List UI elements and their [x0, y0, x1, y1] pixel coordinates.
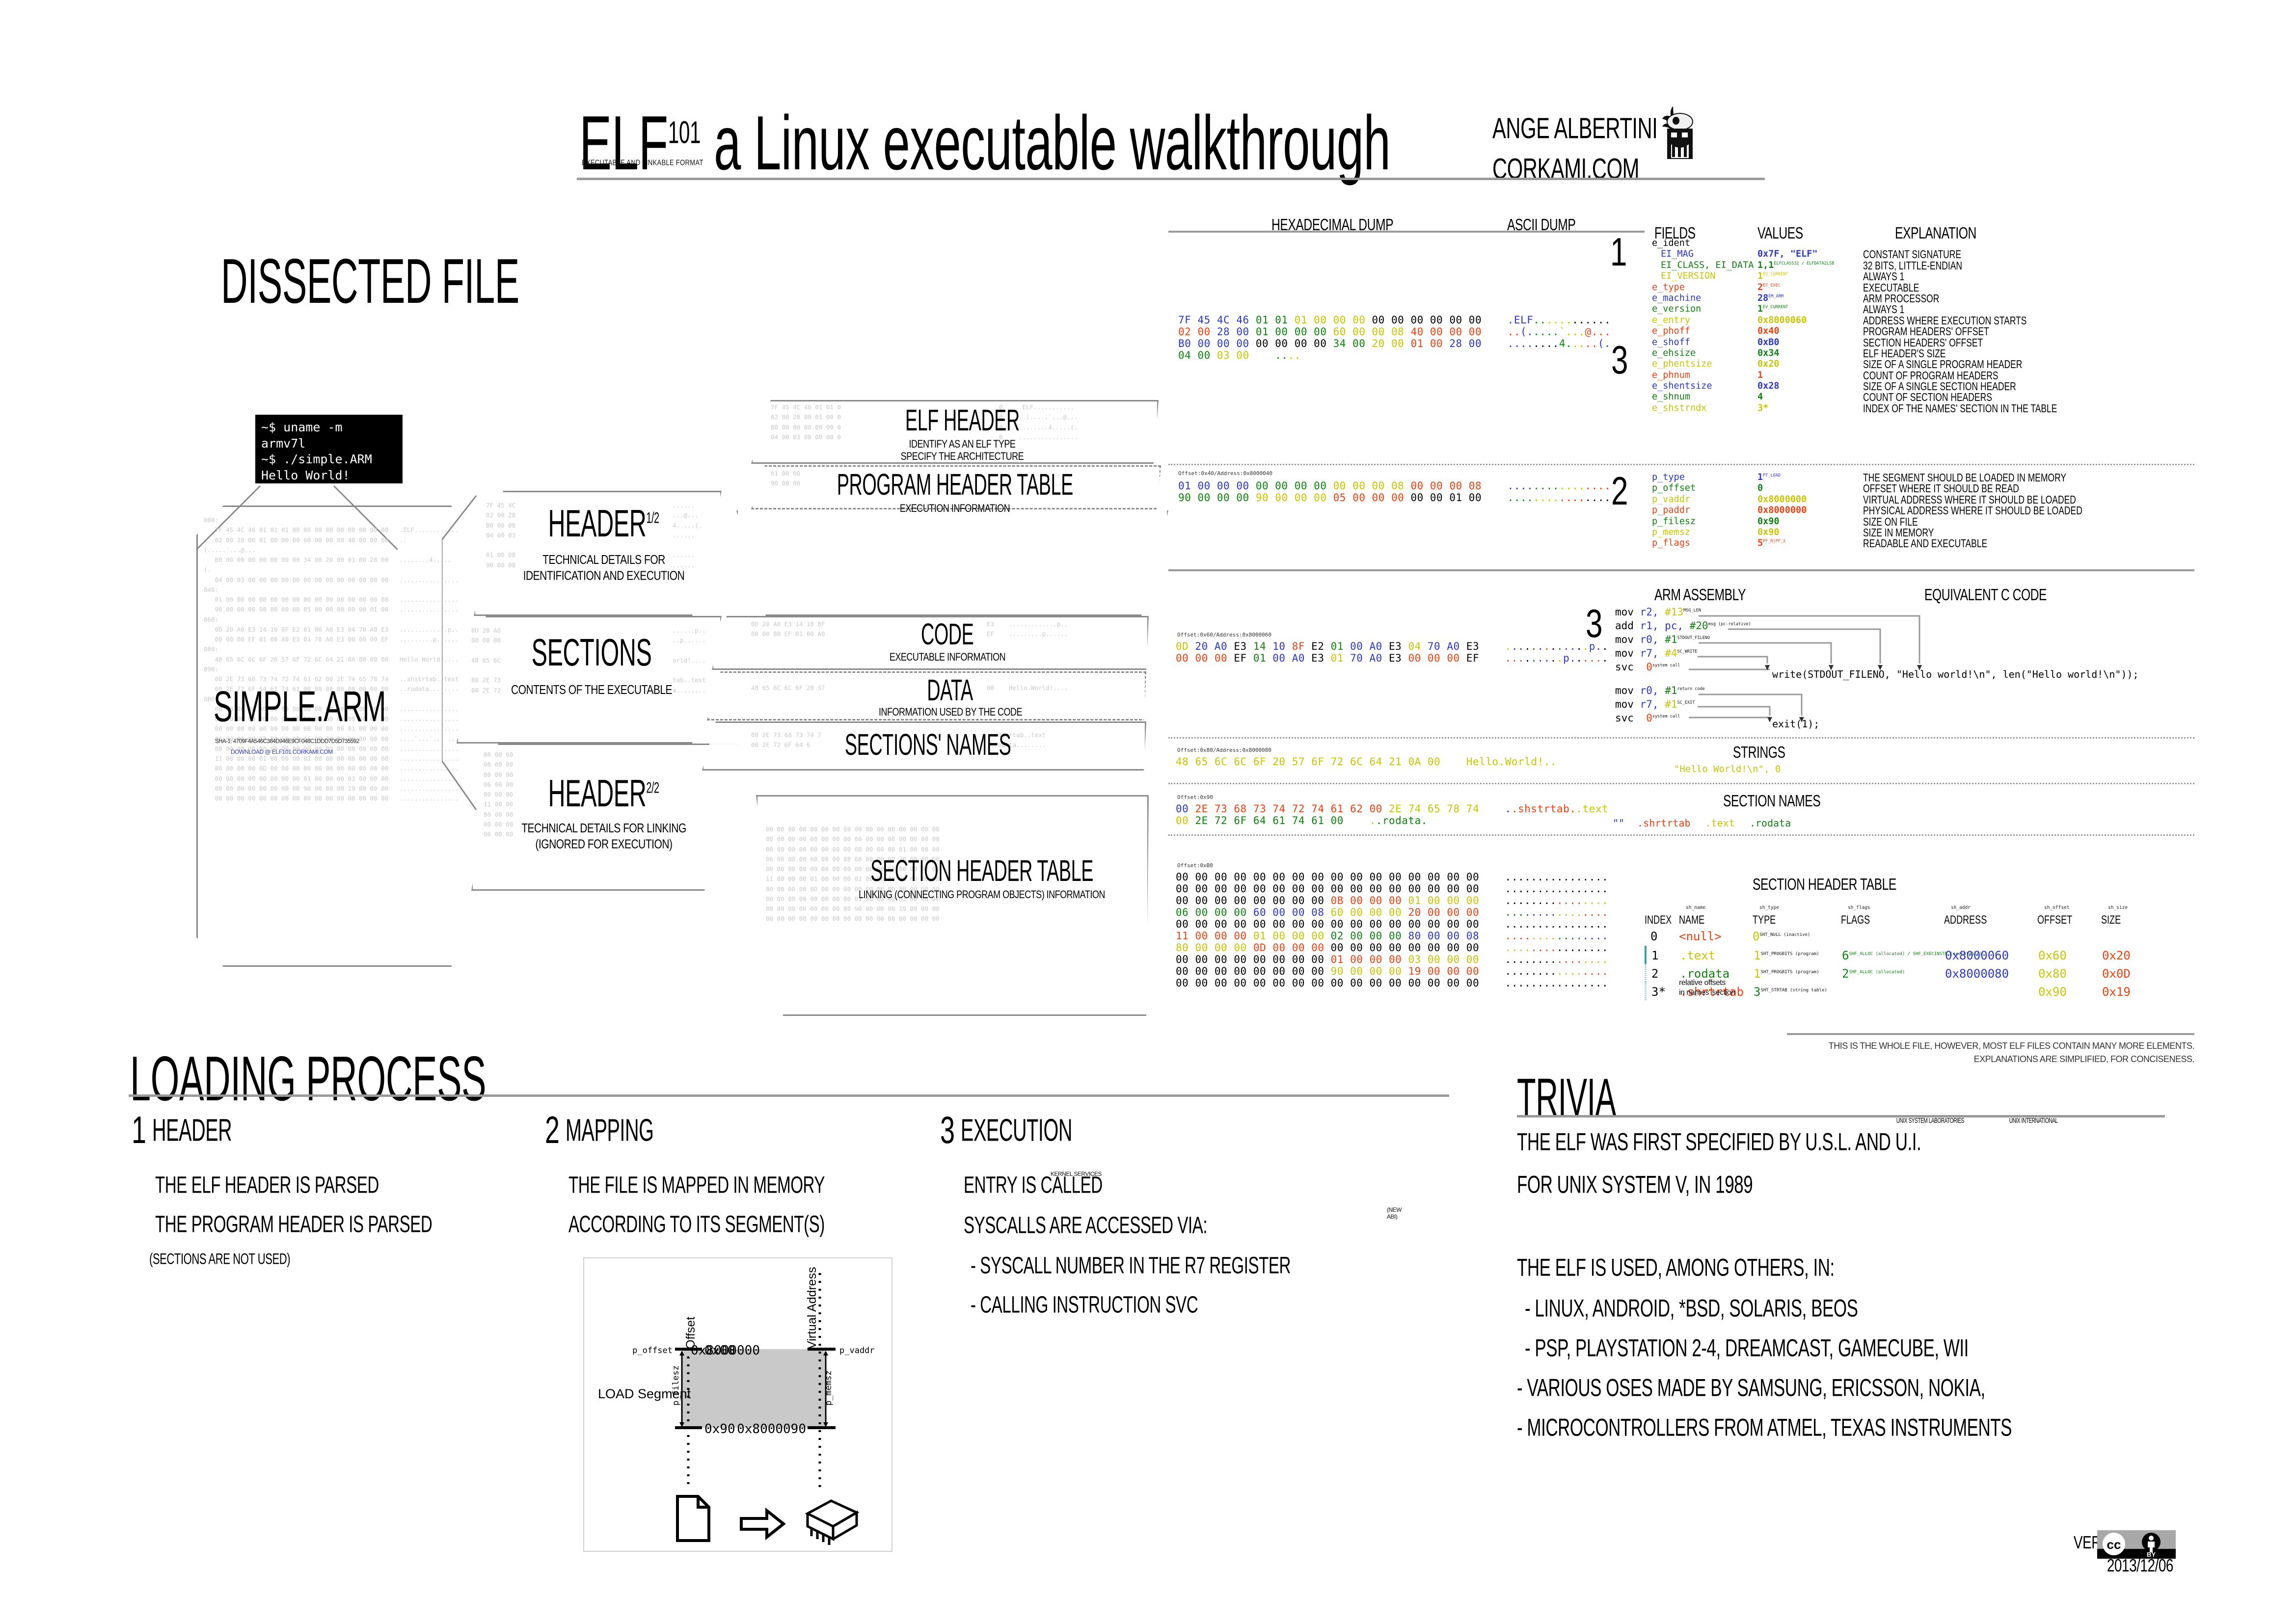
- author-site: CORKAMI.COM: [1492, 149, 1657, 189]
- hex-line: [673, 665, 706, 675]
- asm-annotation: MSG_LEN: [1683, 608, 1701, 613]
- step-line-syscalls: SYSCALLS ARE ACCESSED VIA:: [964, 1211, 1290, 1239]
- sht-col-sup: sh_size: [2108, 905, 2128, 910]
- hex-line: 00 00 00 00 00 00 00 00 00 00 00 00 00 0…: [1176, 883, 1608, 895]
- table-row: 2.rodata1SHT_PROGBITS (program)2SHF_ALLO…: [1645, 964, 1647, 982]
- field-value: 1: [1757, 370, 1763, 380]
- section-names-title: SECTION NAMES: [1723, 791, 1820, 811]
- part-title: PROGRAM HEADER TABLE: [837, 468, 1073, 502]
- field-value: 0x40: [1757, 326, 1780, 336]
- loading-step-2: 2 MAPPING THE FILE IS MAPPED IN MEMORY A…: [545, 1108, 847, 1231]
- asm-operand-b: #1: [1665, 685, 1677, 696]
- field-value: 1EV_CURRENT: [1757, 304, 1788, 314]
- hex-line: 04 00 03 00 ....: [1178, 349, 1611, 361]
- map-p-vaddr: p_vaddr: [839, 1346, 875, 1356]
- field-name: e_type: [1652, 282, 1685, 293]
- divider-solid-1: [1168, 569, 2194, 571]
- asm-operand-a: r0,: [1640, 685, 1659, 696]
- file-sha1: SHA-1: 4709F4A546C384D946E9CF048C1DDD7D5…: [215, 739, 359, 745]
- part-title: SECTIONS' NAMES: [845, 728, 1011, 762]
- terminal-line: armv7l: [261, 436, 397, 452]
- sht-offset: 0x80: [2038, 967, 2067, 981]
- section-names-hexdump: 00 2E 73 68 73 74 72 74 61 62 00 2E 74 6…: [1176, 803, 1608, 826]
- asm-op: mov: [1615, 647, 1634, 659]
- sht-index: 2: [1651, 967, 1658, 981]
- field-value: 0x20: [1757, 359, 1780, 369]
- field-value: 0xB0: [1757, 337, 1780, 347]
- trivia-used-item: - PSP, PLAYSTATION 2-4, DREAMCAST, GAMEC…: [1525, 1335, 2012, 1363]
- title-elf-expansion: EXECUTABLE AND LINKABLE FORMAT: [582, 158, 703, 167]
- field-value: 4: [1757, 392, 1763, 402]
- table-row: 1.text1SHT_PROGBITS (program)6SHF_ALLOC …: [1645, 946, 1647, 964]
- terminal-line: ~$ uname -m: [261, 420, 397, 436]
- map-p-memsz: p_memsz: [824, 1370, 834, 1406]
- field-name: e_machine: [1652, 293, 1701, 303]
- hex-line: 04 00 03 00 00 00 00 00 00 00 00 00 00 0…: [204, 575, 454, 585]
- asm-title: ARM ASSEMBLY: [1654, 585, 1746, 605]
- field-value: 5PF_R|PF_X: [1757, 538, 1785, 548]
- field-value: 0x7F, "ELF": [1757, 249, 1818, 259]
- asm-operand-b: 0: [1646, 712, 1652, 724]
- divider-dotted-3: [1168, 783, 2194, 784]
- hex-line: 11 00 00 00 01 00 00 00 02 00 00 00 80 0…: [204, 754, 454, 764]
- part-label-code: CODE EXECUTABLE INFORMATION: [869, 617, 1026, 661]
- step-title: HEADER: [152, 1113, 232, 1149]
- asm-operand-b: 0: [1646, 661, 1652, 673]
- sht-address: 0x8000080: [1945, 967, 2009, 981]
- field-name: e_shstrndx: [1652, 403, 1706, 413]
- asm-annotation: STDOUT_FILENO: [1677, 636, 1710, 640]
- field-name: EI_CLASS, EI_DATA: [1661, 260, 1754, 270]
- author-name: ANGE ALBERTINI: [1492, 109, 1657, 149]
- part-hex-elf-header: 7F 45 4C 46 01 01 002 00 28 00 01 00 0B0…: [771, 402, 841, 442]
- asm-op: svc: [1615, 712, 1634, 724]
- sht-col-offset: OFFSET: [2037, 914, 2072, 928]
- loading-step-3: 3 EXECUTION ENTRY IS CALLED SYSCALLS ARE…: [940, 1108, 1319, 1311]
- ccode-title: EQUIVALENT C CODE: [1924, 585, 2047, 605]
- asm-op: mov: [1615, 634, 1634, 645]
- section-names-list: "" .shrtrtab .text .rodata: [1613, 817, 1791, 829]
- hex-line: 80 00 00: [484, 810, 513, 820]
- part-label-elf-header: ELF HEADER IDENTIFY AS AN ELF TYPE SPECI…: [859, 403, 1065, 460]
- sht-hexdump: 00 00 00 00 00 00 00 00 00 00 00 00 00 0…: [1176, 871, 1608, 989]
- title-divider: [577, 178, 1765, 180]
- asm-operand-a: r0,: [1640, 634, 1659, 645]
- field-name: p_type: [1652, 472, 1685, 482]
- field-value: 1EV_CURRENT: [1757, 271, 1788, 281]
- asm-op: mov: [1615, 606, 1634, 618]
- part-hex-data: 48 65 6C 6C 6F 20 57: [751, 683, 825, 693]
- hex-line: 00 00 00 00 00 00 00 00 0B 00 00 00 01 0…: [1176, 895, 1608, 906]
- field-name: e_shoff: [1652, 337, 1690, 347]
- group-label-header2: HEADER2/2: [506, 772, 702, 802]
- step-number-3b: 3: [1611, 338, 1628, 383]
- asm-operand-b: #20: [1690, 620, 1708, 632]
- sht-type: 1SHT_PROGBITS (program): [1754, 967, 1819, 981]
- hex-line: 48 65 6C 6C 6F 20 57: [751, 683, 825, 693]
- hex-line: B0 00 00 00 00 00 00 00 34 00 20 00 01 0…: [1178, 338, 1611, 349]
- r7-superscript: (NEW ABI): [1387, 1206, 1402, 1220]
- hex-line: 00 00 00: [484, 760, 513, 770]
- hex-line: 90 00 00 00 90 00 00 00 05 00 00 00 00 0…: [204, 605, 454, 614]
- field-value: 0x90: [1757, 527, 1780, 537]
- field-name: EI_MAG: [1661, 249, 1694, 259]
- cc-license-badge: cc BY: [2097, 1530, 2176, 1559]
- group-label-sections: SECTIONS: [496, 631, 687, 661]
- asm-operand-b: #1: [1665, 634, 1677, 645]
- step-line: THE ELF HEADER IS PARSED: [155, 1171, 432, 1199]
- field-value: 2ET_EXEC: [1757, 282, 1781, 293]
- step-num: 3: [940, 1108, 955, 1152]
- hex-line: 00 2E 73 68 73 74 72 74 61 62 00 2E 74 6…: [1176, 803, 1608, 815]
- hex-line: 0D 20 A0 E3 14 10 8F E2 01 00 A0 E3 04 7…: [1176, 640, 1608, 652]
- field-explanation: INDEX OF THE NAMES' SECTION IN THE TABLE: [1863, 403, 2057, 416]
- dump-footnote: THIS IS THE WHOLE FILE, HOWEVER, MOST EL…: [1811, 1039, 2194, 1066]
- part-title: CODE: [921, 617, 973, 652]
- field-name: p_flags: [1652, 538, 1690, 548]
- asm-operand-a: r2,: [1640, 606, 1659, 618]
- col-head-explanation: EXPLANATION: [1895, 223, 1976, 243]
- hex-line: 02 00 28 00 01 00 00 00 60 00 00 08 40 0…: [1178, 326, 1611, 338]
- field-name: p_paddr: [1652, 505, 1690, 515]
- step-title: MAPPING: [566, 1113, 653, 1149]
- trivia-body: THE ELF WAS FIRST SPECIFIED BY U.S.L. AN…: [1517, 1129, 2055, 1436]
- sht-col-sup: sh_flags: [1848, 905, 1870, 910]
- step-line: - SYSCALL NUMBER IN THE R7 REGISTER: [971, 1251, 1291, 1279]
- group-sub-line: TECHNICAL DETAILS FOR: [511, 552, 697, 568]
- section-name-rodata: .rodata: [1750, 817, 1791, 829]
- sht-index: 0: [1650, 930, 1657, 943]
- hex-line: 06 00 00 00 60 00 00 08 60 00 00 00 20 0…: [1176, 906, 1608, 918]
- hex-line: 01 00 00: [771, 469, 800, 479]
- sht-address: 0x8000060: [1945, 949, 2009, 962]
- dissected-file-heading: DISSECTED FILE: [221, 245, 519, 319]
- hex-line: 00 00 00 00 00 00 00 00 90 00 00 00 19 0…: [766, 904, 940, 914]
- group-sub-sections: CONTENTS OF THE EXECUTABLE: [496, 682, 687, 698]
- hex-line: 00 00 00 00 00 00 00 00 90 00 00 00 19 0…: [204, 784, 454, 794]
- col-head-values: VALUES: [1757, 223, 1803, 243]
- hex-line: B0 00 00 00 00 00 00 00 34 00 20 00 01 0…: [204, 555, 454, 575]
- map-segment-label: LOAD Segment: [598, 1386, 691, 1401]
- table-row: 3*.shrtrtab3SHT_STRTAB (string table)0x9…: [1645, 982, 1647, 1000]
- group-sub-header1: TECHNICAL DETAILS FOR IDENTIFICATION AND…: [511, 552, 697, 585]
- asm-op: mov: [1615, 685, 1634, 696]
- hex-line: 090:: [204, 665, 454, 674]
- field-value: 1PT_LOAD: [1757, 472, 1781, 482]
- asm-operand-a: r7,: [1640, 647, 1659, 659]
- field-value: 0: [1757, 483, 1763, 493]
- asm-op: add: [1615, 620, 1634, 632]
- sht-type: 3SHT_STRTAB (string table): [1754, 985, 1827, 999]
- trivia-line: FOR UNIX SYSTEM V, IN 1989: [1517, 1171, 2012, 1199]
- field-value: 0x28: [1757, 381, 1780, 391]
- asm-op: mov: [1615, 698, 1634, 710]
- group-sub-line: CONTENTS OF THE EXECUTABLE: [496, 682, 687, 698]
- title-subtitle: a Linux executable walkthrough: [701, 100, 1390, 186]
- group-sup: 2/2: [647, 779, 659, 797]
- sht-note: relative offsets in names' section: [1679, 978, 1735, 998]
- part-sub: SPECIFY THE ARCHITECTURE: [859, 450, 1065, 463]
- hex-line: B0 00 00 00 00 00 0: [771, 423, 841, 432]
- map-vaddr-axis: Virtual Address: [805, 1267, 819, 1349]
- mascot-icon: [1654, 102, 1702, 166]
- step-line-text: SYSCALLS ARE ACCESSED VIA:: [964, 1211, 1207, 1238]
- asm-line: mov r0, #1return code: [1615, 685, 1705, 698]
- sht-col-sup: sh_offset: [2044, 905, 2069, 910]
- page-title: ELF101 a Linux executable walkthrough: [579, 98, 1390, 187]
- step-number-3: 3: [1586, 601, 1602, 646]
- hex-line: 04 00 03 00 00 00 0: [771, 432, 841, 442]
- part-title: DATA: [927, 673, 972, 708]
- field-value: 0x8000000: [1757, 494, 1807, 505]
- field-name: e_ehsize: [1652, 348, 1696, 358]
- map-p-offset: p_offset: [632, 1346, 673, 1356]
- asm-line: svc 0system call: [1615, 712, 1705, 726]
- step-number-2: 2: [1611, 469, 1628, 514]
- loading-process-heading: LOADING PROCESS: [130, 1043, 486, 1116]
- field-value: 0x8000000: [1757, 505, 1807, 515]
- part-sub: IDENTIFY AS AN ELF TYPE: [859, 438, 1065, 451]
- by-glyph: BY: [2147, 1551, 2156, 1558]
- asm-line: mov r2, #13MSG_LEN: [1615, 606, 1751, 620]
- hex-line: 080:: [204, 644, 454, 654]
- part-label-section-header-table: SECTION HEADER TABLE LINKING (CONNECTING…: [835, 854, 1129, 899]
- hex-line: 00 00 00 00 00 00 00 00 00 00 00 00 00 0…: [204, 794, 454, 803]
- loading-process-divider: [129, 1094, 1449, 1097]
- data-offset-label: Offset:0x80/Address:0x8000080: [1177, 747, 1271, 753]
- sht-col-sup: sh_type: [1759, 905, 1779, 910]
- hex-line: 00 00 00: [484, 750, 513, 760]
- sht-note-line: relative offsets: [1679, 978, 1735, 988]
- asm-block-write: mov r2, #13MSG_LENadd r1, pc, #20msg (pc…: [1615, 606, 1751, 675]
- trivia-used-item: - LINUX, ANDROID, *BSD, SOLARIS, BEOS: [1525, 1295, 2012, 1323]
- trivia-used-item: - VARIOUS OSES MADE BY SAMSUNG, ERICSSON…: [1517, 1375, 2012, 1403]
- trivia-heading: TRIVIA: [1517, 1067, 1616, 1128]
- loading-step-1: 1 HEADER THE ELF HEADER IS PARSED THE PR…: [132, 1108, 456, 1264]
- group-label-header1: HEADER1/2: [511, 502, 697, 532]
- step-num: 1: [132, 1108, 146, 1152]
- step-title: EXECUTION: [961, 1113, 1072, 1149]
- cc-glyph: cc: [2107, 1537, 2121, 1552]
- hex-line: 00 00 00 EF 01 00 A0 E3 01 70 A0 E3 00 0…: [204, 635, 454, 644]
- field-value: 0x34: [1757, 348, 1780, 358]
- hex-line: 00 00 00 00 00 00 00 00 0B 00 00 00 01 0…: [766, 845, 940, 854]
- hex-line: 00 00 00 00 00 00 00 00 00 00 00 00 00 0…: [766, 914, 940, 924]
- trivia-sup-usl: UNIX SYSTEM LABORATORIES: [1896, 1117, 1964, 1125]
- field-name: e_shnum: [1652, 392, 1690, 402]
- title-superscript: 101: [668, 115, 701, 150]
- trivia-line: THE ELF WAS FIRST SPECIFIED BY U.S.L. AN…: [1517, 1129, 1921, 1156]
- dump-rule-top: [1168, 231, 1645, 233]
- group-sup: 1/2: [647, 509, 659, 527]
- field-name: e_entry: [1652, 315, 1690, 325]
- hex-line: 7F 45 4C 46 01 01 01 00 00 00 00 00 00 0…: [204, 525, 454, 535]
- sht-size: 0x0D: [2102, 967, 2131, 981]
- sht-title: SECTION HEADER TABLE: [1753, 875, 1896, 894]
- asm-line: mov r7, #4SC_WRITE: [1615, 647, 1751, 661]
- ph-offset-label: Offset:0x40/Address:0x8000040: [1178, 470, 1272, 477]
- asm-operand-a: r1, pc,: [1640, 620, 1684, 632]
- hex-line: 0D 20 A0 E3 14 10 8F E2 01 00 A0 E3 04 7…: [204, 625, 454, 635]
- sht-flags: 2SHF_ALLOC (allocated): [1842, 967, 1905, 981]
- strings-title: STRINGS: [1733, 743, 1785, 762]
- asm-annotation: SC_EXIT: [1677, 700, 1695, 705]
- field-explanation: READABLE AND EXECUTABLE: [1863, 538, 1987, 551]
- step-line: - CALLING INSTRUCTION SVC: [971, 1291, 1291, 1319]
- field-name: e_phoff: [1652, 326, 1690, 336]
- field-name: e_version: [1652, 304, 1701, 314]
- sht-col-sup: sh_addr: [1951, 905, 1971, 910]
- hex-line: 0D 20 A0 E3 14 10 8F: [751, 619, 825, 629]
- footnote-line: EXPLANATIONS ARE SIMPLIFIED, FOR CONCISE…: [1811, 1053, 2194, 1066]
- part-label-program-header-table: PROGRAM HEADER TABLE EXECUTION INFORMATI…: [812, 468, 1097, 512]
- field-name: EI_VERSION: [1661, 271, 1715, 281]
- hex-line: 02 00 28 00 01 00 0: [771, 412, 841, 422]
- sht-name: <null>: [1679, 930, 1722, 943]
- asm-annotation: return code: [1677, 687, 1704, 692]
- table-row: 0<null>0SHT_NULL (inactive): [1645, 928, 1647, 946]
- title-elf: ELF: [579, 100, 668, 186]
- file-hexdump: 000: 7F 45 4C 46 01 01 01 00 00 00 00 00…: [204, 515, 454, 803]
- map-file-bottom: 0x90: [704, 1422, 735, 1437]
- hex-line: [673, 540, 702, 550]
- step-num: 2: [545, 1108, 560, 1152]
- sht-name: .text: [1680, 949, 1715, 962]
- asm-op: svc: [1615, 661, 1634, 673]
- part-sub: EXECUTABLE INFORMATION: [869, 651, 1026, 664]
- section-header-table: INDEXNAMEsh_nameTYPEsh_typeFLAGSsh_flags…: [1645, 903, 1647, 1000]
- asm-annotation: system call: [1652, 663, 1680, 668]
- hex-line: 00 00 00 00 00 00 00 00 00 00 00 00 00 0…: [766, 834, 940, 844]
- part-title: ELF HEADER: [905, 403, 1020, 438]
- strings-value: "Hello World!\n", 0: [1674, 764, 1781, 774]
- divider-solid-2: [1787, 1033, 2194, 1035]
- field-name: p_vaddr: [1652, 494, 1690, 505]
- asm-annotation: system call: [1652, 714, 1680, 719]
- asm-annotation: msg (pc-relative): [1708, 622, 1751, 627]
- program-header-hexdump: 01 00 00 00 00 00 00 00 00 00 00 08 00 0…: [1178, 480, 1611, 504]
- field-name: e_phentsize: [1652, 359, 1712, 369]
- asm-operand-b: #13: [1665, 606, 1683, 618]
- download-link[interactable]: DOWNLOAD @ ELF101.CORKAMI.COM: [231, 748, 333, 755]
- field-name: p_memsz: [1652, 527, 1690, 537]
- file-name-label: SIMPLE.ARM: [214, 682, 386, 732]
- asm-operand-b: #4: [1665, 647, 1677, 659]
- hex-line: 01 00 00 00 00 00 00 00 00 00 00 08 00 0…: [1178, 480, 1611, 492]
- trivia-used-intro: THE ELF IS USED, AMONG OTHERS, IN:: [1517, 1254, 2012, 1282]
- hex-line: 90 00 00 00 90 00 00 00 05 00 00 00 00 0…: [1178, 492, 1611, 504]
- part-sub: LINKING (CONNECTING PROGRAM OBJECTS) INF…: [835, 888, 1129, 901]
- hex-line: 00 00 00 00 00 00 00 00 00 00 00 00 00 0…: [1176, 977, 1608, 989]
- mapping-diagram: 0x00 0x90 0x8000000 0x8000090 p_offset p…: [583, 1257, 892, 1552]
- code-offset-label: Offset:0x60/Address:0x8000060: [1177, 632, 1271, 638]
- field-value: 1,1ELFCLASS32 / ELFDATA2LSB: [1757, 260, 1834, 270]
- terminal-line: ~$ ./simple.ARM: [261, 452, 397, 468]
- hex-line: 80 00 00 00 0D 00 00 00 00 00 00 00 00 0…: [204, 764, 454, 773]
- trivia-divider: [1517, 1115, 2165, 1117]
- hex-line: 02 00 28 00 01 00 00 00 60 00 00 08 40 0…: [204, 535, 454, 556]
- hex-line: 00 00 00 EF 01 00 A0 E3 01 70 A0 E3 00 0…: [1176, 652, 1608, 664]
- hex-line: 90 00 00: [771, 479, 800, 488]
- field-name: e_shentsize: [1652, 381, 1712, 391]
- part-label-sections-names: SECTIONS' NAMES: [830, 728, 1026, 751]
- hex-line: 000:: [204, 515, 454, 525]
- field-value: 0x8000060: [1757, 315, 1807, 325]
- sht-index: 1: [1651, 949, 1658, 962]
- asm-annotation: SC_WRITE: [1677, 649, 1697, 654]
- group-title: HEADER: [548, 502, 647, 545]
- part-label-data: DATA INFORMATION USED BY THE CODE: [879, 673, 1021, 716]
- step-number-1: 1: [1610, 230, 1627, 275]
- field-name: e_phnum: [1652, 370, 1690, 380]
- hex-line: 00 00 00 EF 01 00 A0: [751, 629, 825, 639]
- sht-type: 0SHT_NULL (inactive): [1753, 930, 1810, 943]
- step-line: THE PROGRAM HEADER IS PARSED: [155, 1210, 432, 1238]
- footnote-line: THIS IS THE WHOLE FILE, HOWEVER, MOST EL…: [1811, 1039, 2194, 1053]
- step-note: (SECTIONS ARE NOT USED): [149, 1251, 432, 1268]
- sht-note-line: in names' section: [1679, 988, 1735, 998]
- group-sub-line: TECHNICAL DETAILS FOR LINKING: [506, 821, 702, 837]
- section-name-shstrtab: .shrtrtab: [1637, 817, 1690, 829]
- asm-line: add r1, pc, #20msg (pc-relative): [1615, 620, 1751, 634]
- hex-line: 00 00 00 00 00 00 00 00 00 00 00 00 00 0…: [766, 825, 940, 834]
- sht-col-flags: FLAGS: [1841, 914, 1870, 928]
- part-title: SECTION HEADER TABLE: [870, 854, 1093, 888]
- hex-line: 80 00 00 00 0D 00 00 00 00 00 00 00 00 0…: [1176, 942, 1608, 954]
- hex-line: 01 00 00 00 00 00 00 00 00 00 00 08 00 0…: [204, 595, 454, 605]
- hex-line: 00 00 00 00 00 00 00 00 00 00 00 00 00 0…: [1176, 918, 1608, 930]
- hex-line: [471, 665, 501, 675]
- hex-line: 00 2E 73 68 73 74 7: [751, 730, 821, 740]
- asm-block-exit: mov r0, #1return codemov r7, #1SC_EXITsv…: [1615, 685, 1705, 726]
- elf-header-hexdump: 7F 45 4C 46 01 01 01 00 00 00 00 00 00 0…: [1178, 314, 1611, 361]
- section-name-text: .text: [1705, 817, 1735, 829]
- section-name-null: "": [1613, 817, 1624, 829]
- sht-size: 0x20: [2102, 949, 2131, 962]
- group-title: HEADER: [548, 772, 647, 815]
- sht-col-name: NAME: [1679, 914, 1704, 928]
- map-mem-bottom: 0x8000090: [737, 1422, 806, 1437]
- asm-line: mov r0, #1STDOUT_FILENO: [1615, 634, 1751, 647]
- sht-header-row: INDEXNAMEsh_nameTYPEsh_typeFLAGSsh_flags…: [1645, 903, 1647, 928]
- field-value: 3*: [1757, 403, 1768, 413]
- part-sub: INFORMATION USED BY THE CODE: [879, 706, 1021, 718]
- sht-col-address: ADDRESS: [1944, 914, 1987, 928]
- map-offset-axis: Offset: [684, 1317, 698, 1349]
- sht-col-type: TYPE: [1753, 914, 1776, 928]
- hex-line: 7F 45 4C 46 01 01 0: [771, 402, 841, 412]
- group-sub-line: IDENTIFICATION AND EXECUTION: [511, 568, 697, 585]
- group-sub-line: (IGNORED FOR EXECUTION): [506, 837, 702, 853]
- trivia-used-item: - MICROCONTROLLERS FROM ATMEL, TEXAS INS…: [1517, 1414, 2012, 1442]
- hex-line: 7F 45 4C 46 01 01 01 00 00 00 00 00 00 0…: [1178, 314, 1611, 326]
- asm-line: mov r7, #1SC_EXIT: [1615, 698, 1705, 712]
- poster-header: ELF101 a Linux executable walkthrough EX…: [0, 44, 2296, 142]
- asm-operand-b: #1: [1665, 698, 1677, 710]
- hex-line: 48 65 6C 6C 6F 20 57 6F 72 6C 64 21 0A 0…: [204, 655, 454, 665]
- field-name: p_filesz: [1652, 516, 1696, 527]
- sht-col-size: SIZE: [2101, 914, 2121, 928]
- asm-operand-a: r7,: [1640, 698, 1659, 710]
- step-line: ENTRY IS CALLED: [964, 1171, 1290, 1199]
- c-code-exit: exit(1);: [1772, 718, 1819, 730]
- divider-dotted-4: [1168, 834, 2194, 836]
- sht-type: 1SHT_PROGBITS (program): [1754, 949, 1819, 962]
- hex-line: [486, 540, 515, 550]
- c-code-write: write(STDOUT_FILENO, "Hello world!\n", l…: [1772, 668, 2139, 680]
- hex-line: 00 00 00 00 00 00 00 00 90 00 00 00 19 0…: [1176, 965, 1608, 977]
- sht-offset: 0x60: [2038, 949, 2067, 962]
